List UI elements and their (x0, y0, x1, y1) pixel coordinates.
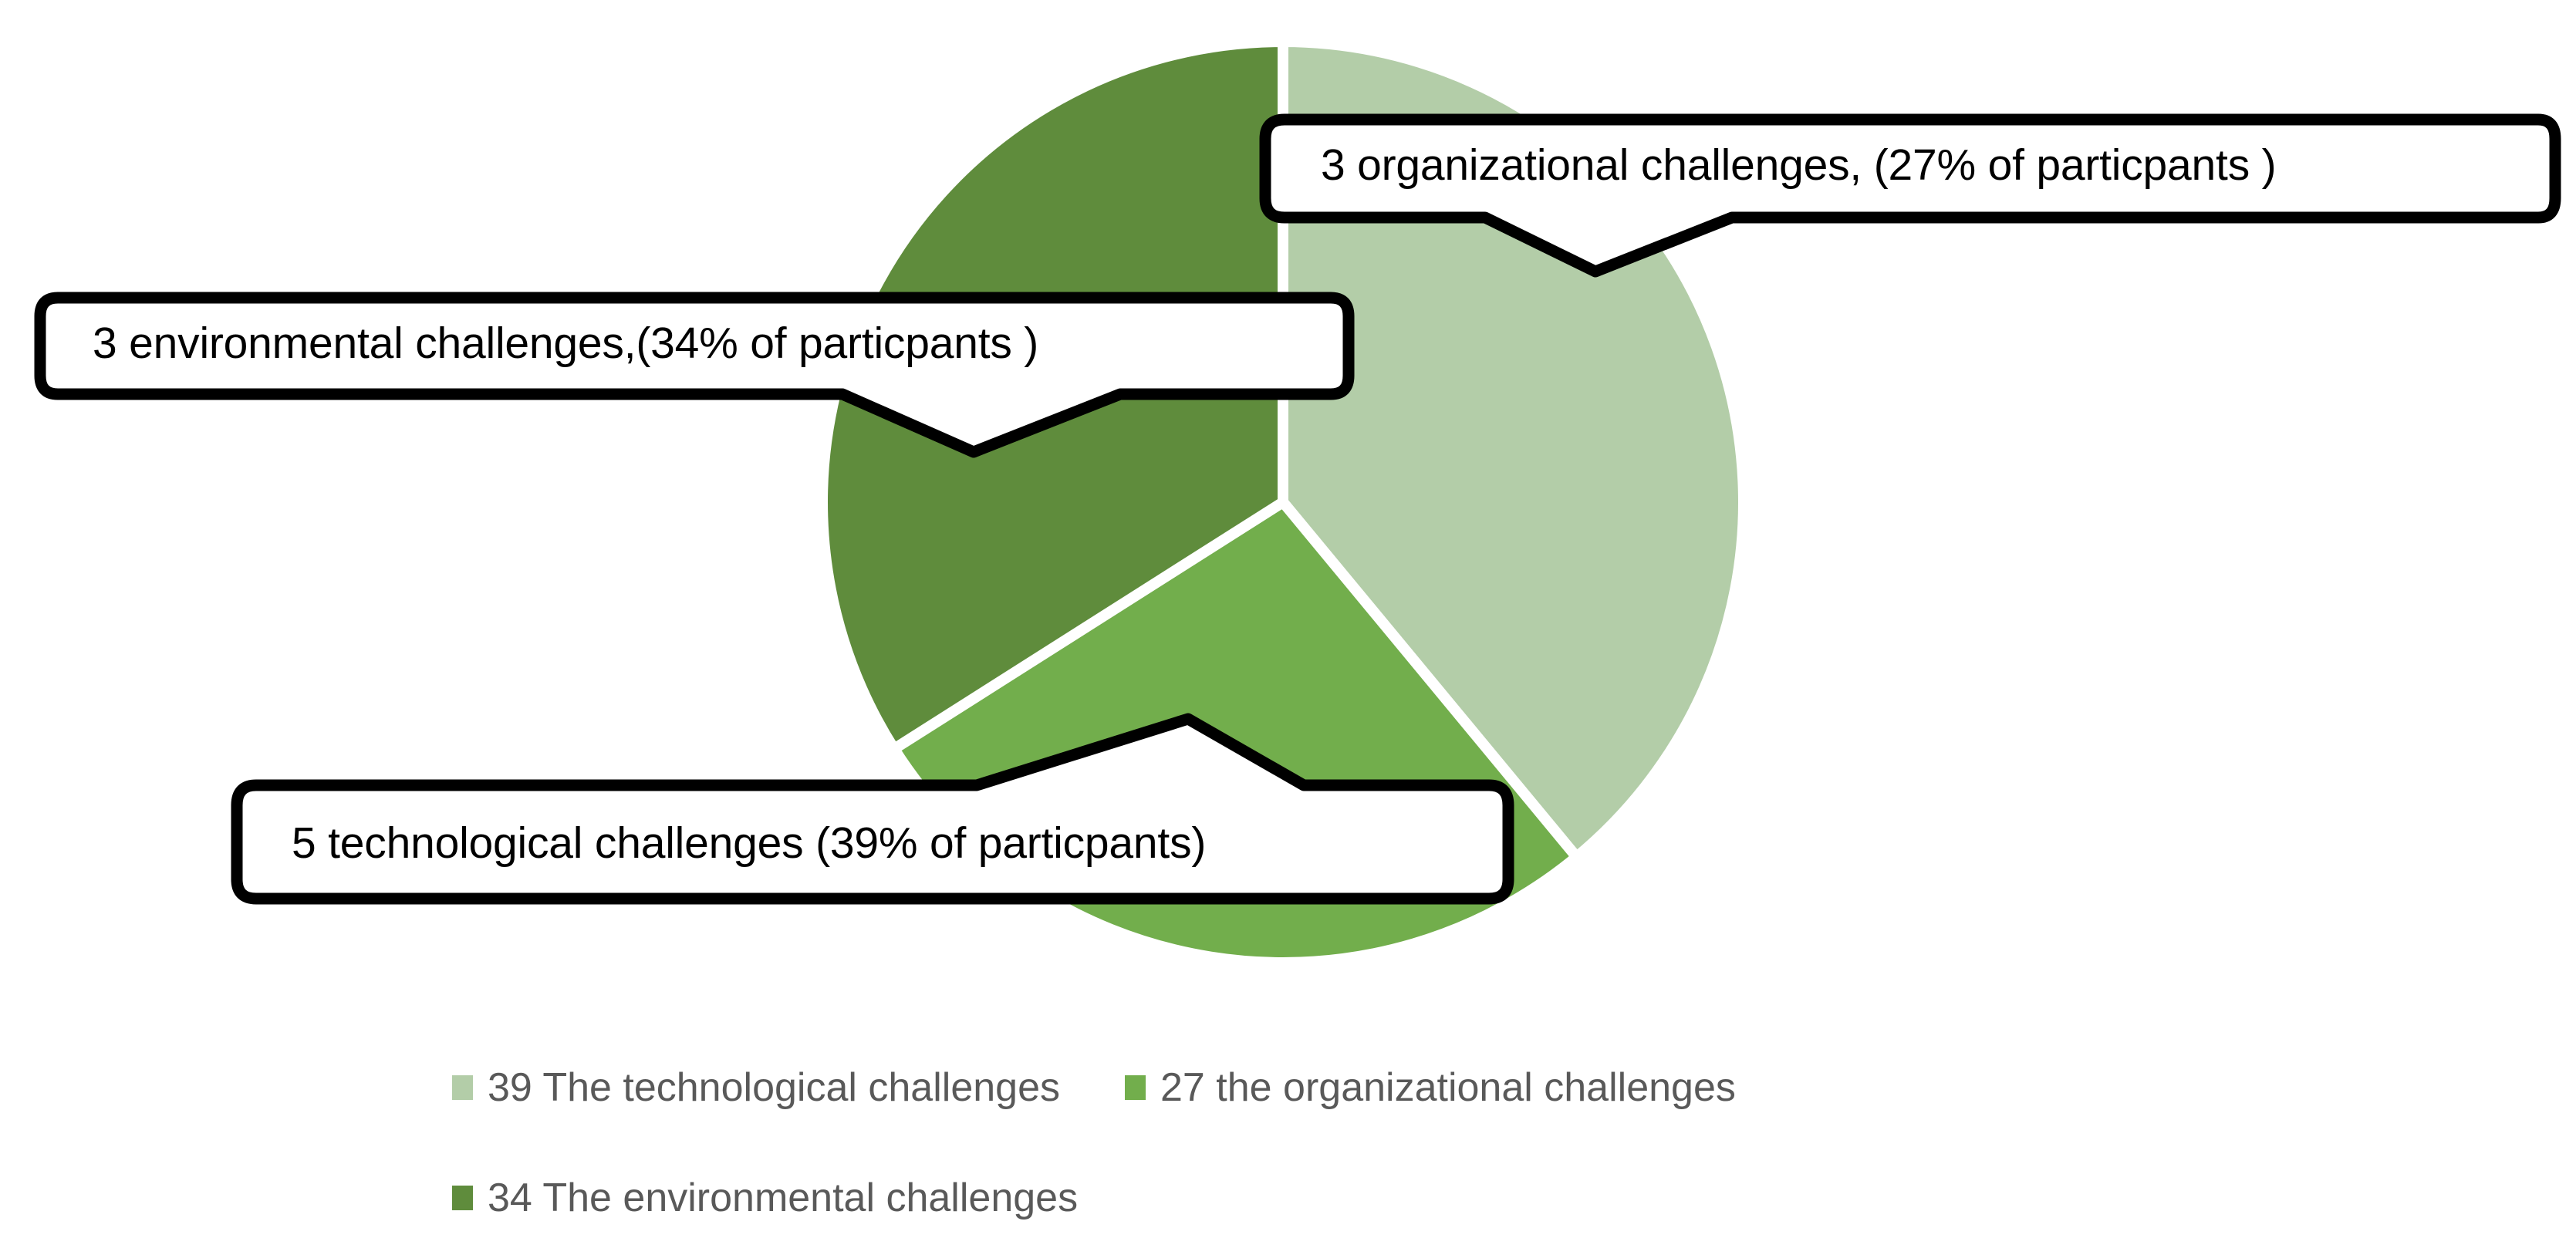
legend-row-2: 34 The environmental challenges (452, 1178, 1078, 1218)
legend-swatch-icon (452, 1075, 473, 1100)
legend-label-environmental: 34 The environmental challenges (488, 1178, 1078, 1218)
legend-row-1: 39 The technological challenges 27 the o… (452, 1068, 1736, 1108)
callout-label-organizational: 3 organizational challenges, (27% of par… (1321, 143, 2276, 187)
callout-label-environmental: 3 environmental challenges,(34% of parti… (93, 322, 1038, 366)
callout-label-technological: 5 technological challenges (39% of parti… (292, 821, 1206, 865)
legend-item-environmental[interactable]: 34 The environmental challenges (452, 1178, 1078, 1218)
pie-chart-figure: 3 organizational challenges, (27% of par… (0, 0, 2576, 1255)
legend-item-organizational[interactable]: 27 the organizational challenges (1125, 1068, 1736, 1108)
legend-item-technological[interactable]: 39 The technological challenges (452, 1068, 1060, 1108)
legend-swatch-icon (452, 1186, 473, 1210)
legend-swatch-icon (1125, 1075, 1146, 1100)
legend-label-technological: 39 The technological challenges (488, 1068, 1060, 1108)
legend-label-organizational: 27 the organizational challenges (1160, 1068, 1736, 1108)
